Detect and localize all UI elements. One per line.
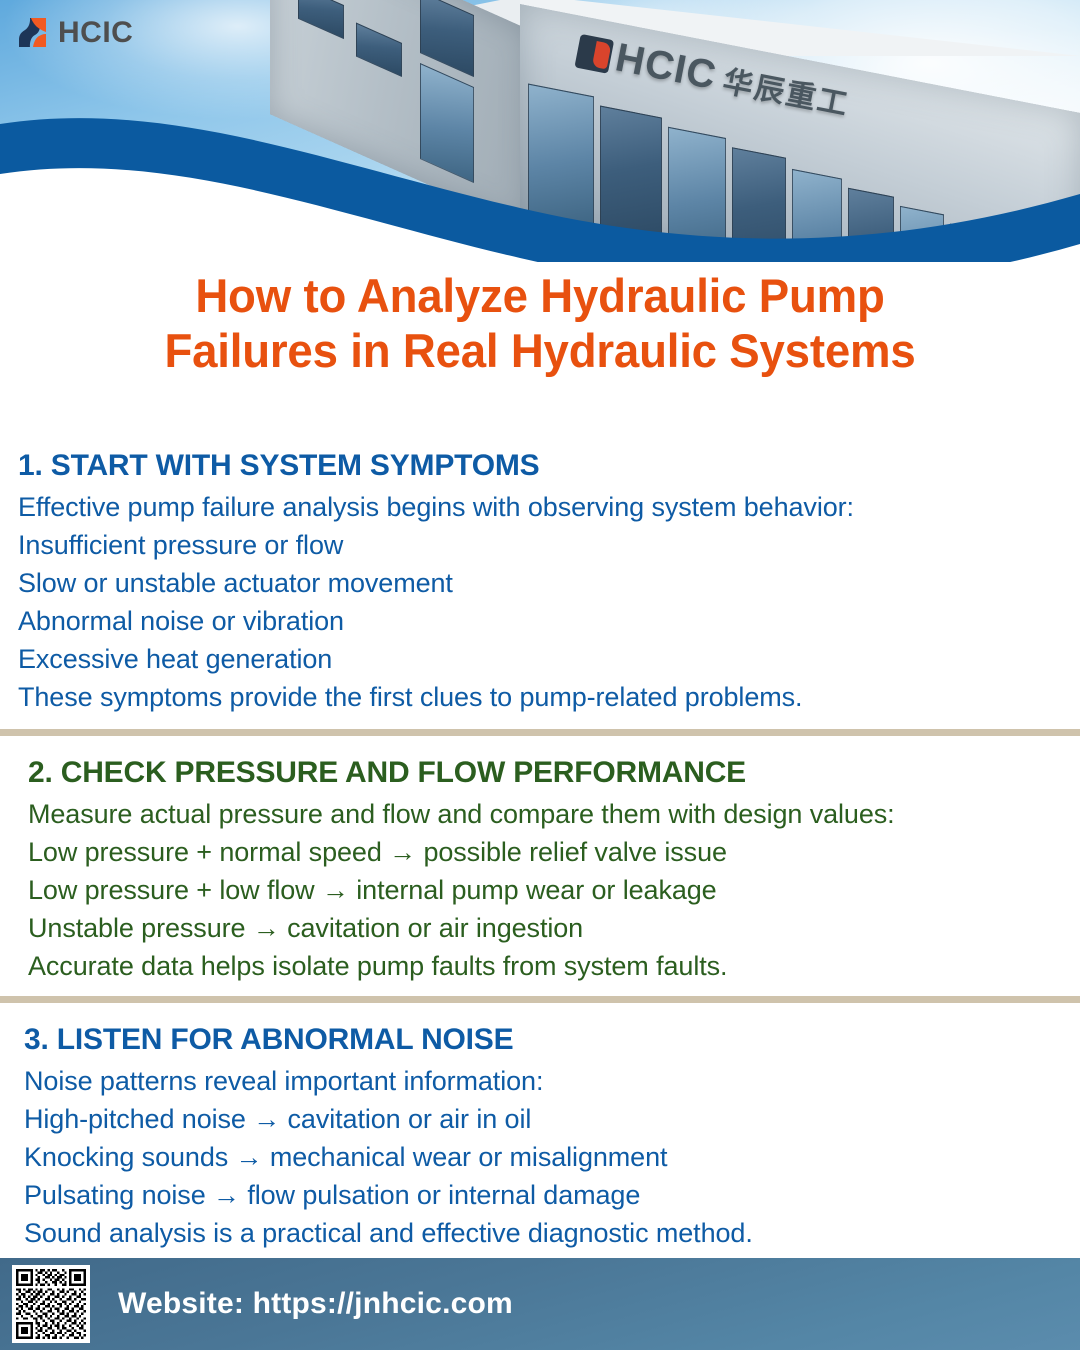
qr-code-icon[interactable] [12, 1265, 90, 1343]
section-start-with-system-symptoms: 1. START WITH SYSTEM SYMPTOMS Effective … [0, 448, 1080, 716]
hcic-logo-text: HCIC [58, 18, 133, 48]
section-2-heading: 2. CHECK PRESSURE AND FLOW PERFORMANCE [28, 755, 1080, 792]
page-title-line1: How to Analyze Hydraulic Pump [16, 268, 1064, 323]
section-2-line-4: Unstable pressure → cavitation or air in… [28, 909, 1080, 947]
section-1-line-6: These symptoms provide the first clues t… [18, 678, 1080, 716]
section-3-line-4: Pulsating noise → flow pulsation or inte… [24, 1176, 1080, 1214]
section-1-line-2: Insufficient pressure or flow [18, 526, 1080, 564]
section-1-line-3: Slow or unstable actuator movement [18, 564, 1080, 602]
section-2-line-3: Low pressure + low flow → internal pump … [28, 871, 1080, 909]
section-divider-2 [0, 996, 1080, 1003]
section-3-line-1: Noise patterns reveal important informat… [24, 1062, 1080, 1100]
section-3-line-3: Knocking sounds → mechanical wear or mis… [24, 1138, 1080, 1176]
section-divider-1 [0, 729, 1080, 736]
section-check-pressure-and-flow-performance: 2. CHECK PRESSURE AND FLOW PERFORMANCE M… [0, 755, 1080, 985]
section-listen-for-abnormal-noise: 3. LISTEN FOR ABNORMAL NOISE Noise patte… [0, 1022, 1080, 1252]
poster-root: HCIC华辰重工 HCIC How to Analyze Hydraulic P… [0, 0, 1080, 1350]
section-3-line-2: High-pitched noise → cavitation or air i… [24, 1100, 1080, 1138]
section-1-line-5: Excessive heat generation [18, 640, 1080, 678]
section-1-line-4: Abnormal noise or vibration [18, 602, 1080, 640]
section-1-heading: 1. START WITH SYSTEM SYMPTOMS [18, 448, 1080, 485]
hero-banner: HCIC华辰重工 HCIC [0, 0, 1080, 262]
hcic-logo: HCIC [16, 16, 133, 49]
section-2-line-1: Measure actual pressure and flow and com… [28, 795, 1080, 833]
section-2-line-5: Accurate data helps isolate pump faults … [28, 947, 1080, 985]
section-3-heading: 3. LISTEN FOR ABNORMAL NOISE [24, 1022, 1080, 1059]
hcic-logo-mark-icon [16, 16, 49, 49]
blue-wave-decoration [0, 102, 1080, 262]
page-title: How to Analyze Hydraulic Pump Failures i… [16, 268, 1064, 379]
website-link[interactable]: Website: https://jnhcic.com [118, 1287, 513, 1321]
building-logo-mark [574, 34, 614, 74]
section-1-line-1: Effective pump failure analysis begins w… [18, 488, 1080, 526]
section-2-line-2: Low pressure + normal speed → possible r… [28, 833, 1080, 871]
footer-bar: Website: https://jnhcic.com [0, 1258, 1080, 1350]
page-title-line2: Failures in Real Hydraulic Systems [16, 323, 1064, 378]
section-3-line-5: Sound analysis is a practical and effect… [24, 1214, 1080, 1252]
